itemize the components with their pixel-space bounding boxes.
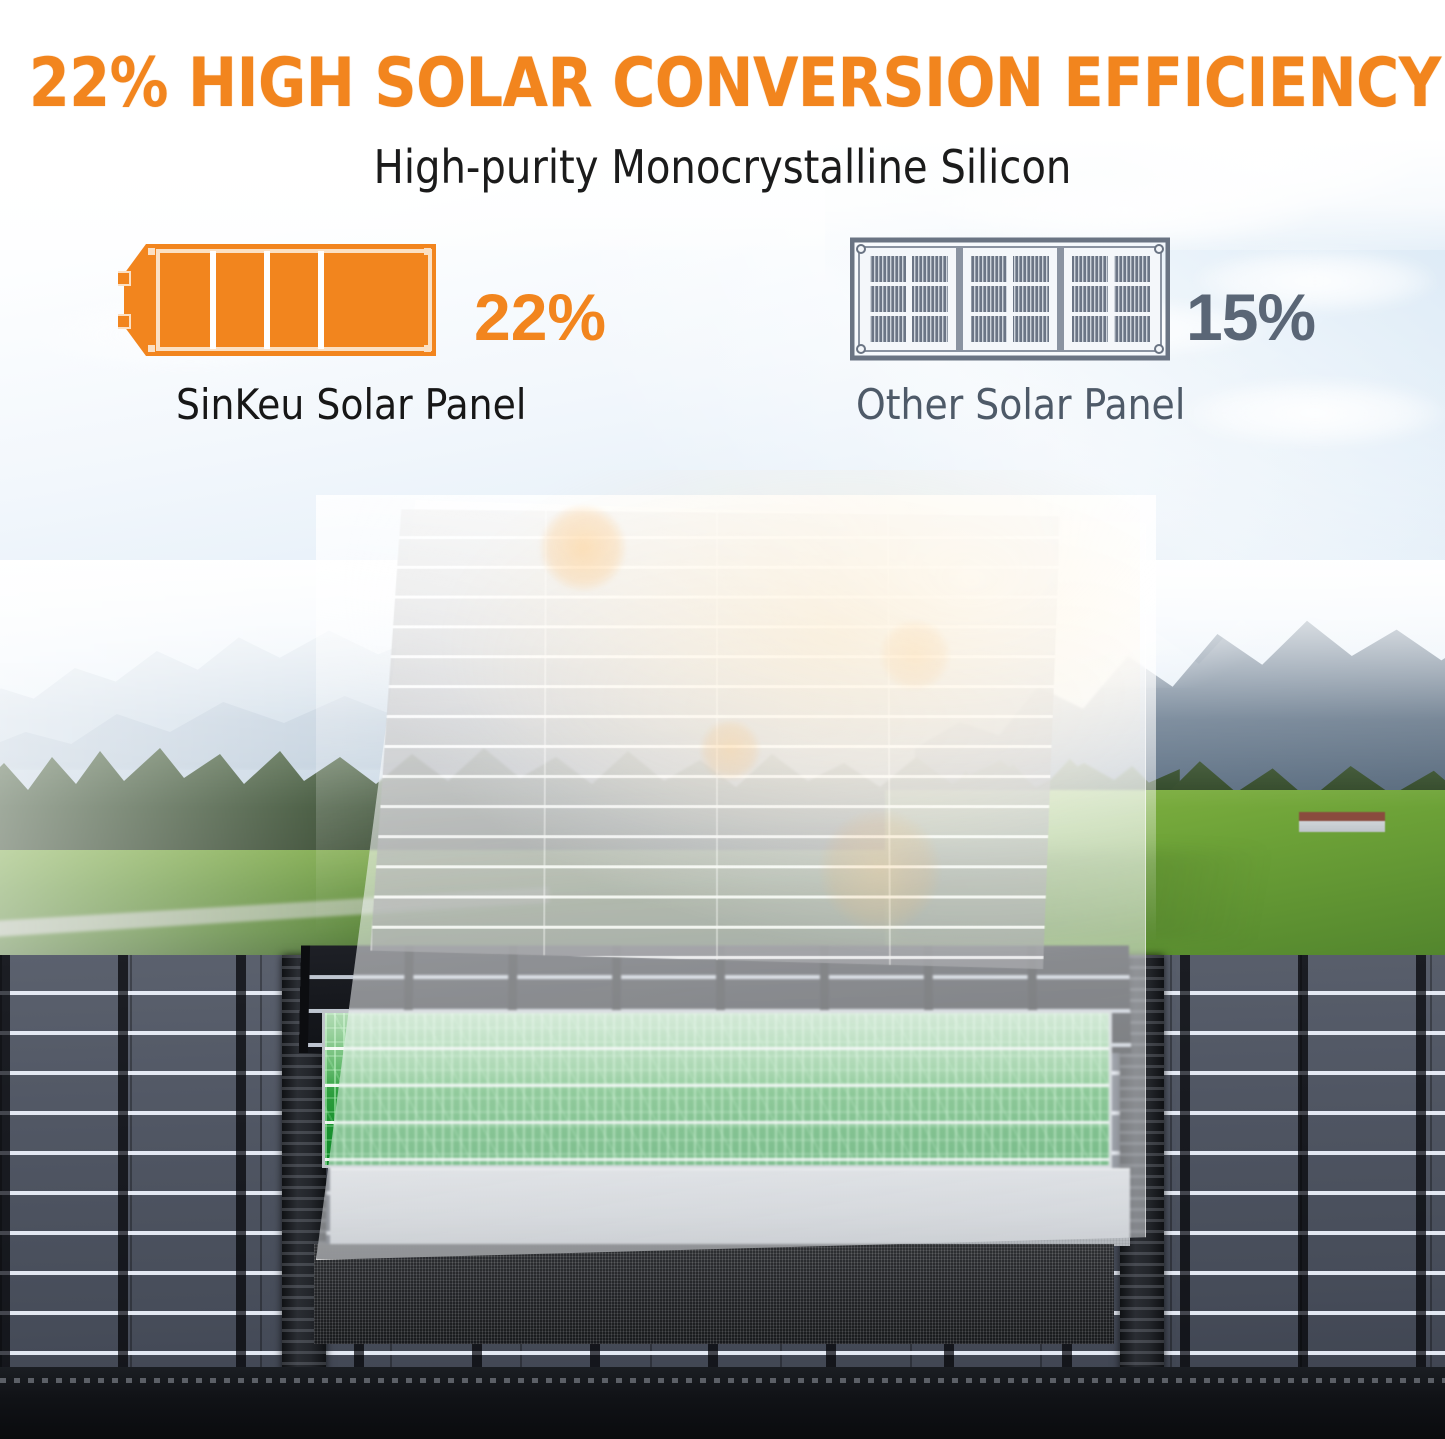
gray-folding-solar-panel-icon [850,236,1170,364]
dark-fabric-backing-layer [314,1244,1114,1344]
comparison-row: 22% [118,236,698,364]
comparison-label-other: Other Solar Panel [856,380,1320,429]
comparison-row: 15% [850,236,1320,364]
page-subtitle: High-purity Monocrystalline Silicon [22,140,1424,194]
efficiency-percent-sinkeu: 22% [474,284,606,350]
header-white-overlay [0,0,1445,250]
page-title: 22% HIGH SOLAR CONVERSION EFFICIENCY [29,44,1416,123]
efficiency-percent-other: 15% [1186,284,1315,350]
product-marketing-image: 22% HIGH SOLAR CONVERSION EFFICIENCY Hig… [0,0,1445,1439]
panel-column-dividers [370,509,1064,969]
comparison-item-other: 15% Other Solar Panel [850,236,1320,429]
ghosted-solar-panel-overlay [370,509,1064,969]
comparison-item-sinkeu: 22% SinKeu Solar Panel [118,236,698,429]
comparison-label-sinkeu: SinKeu Solar Panel [176,380,698,429]
orange-folding-solar-panel-icon [118,236,448,364]
fabric-weave-texture [314,1244,1114,1344]
